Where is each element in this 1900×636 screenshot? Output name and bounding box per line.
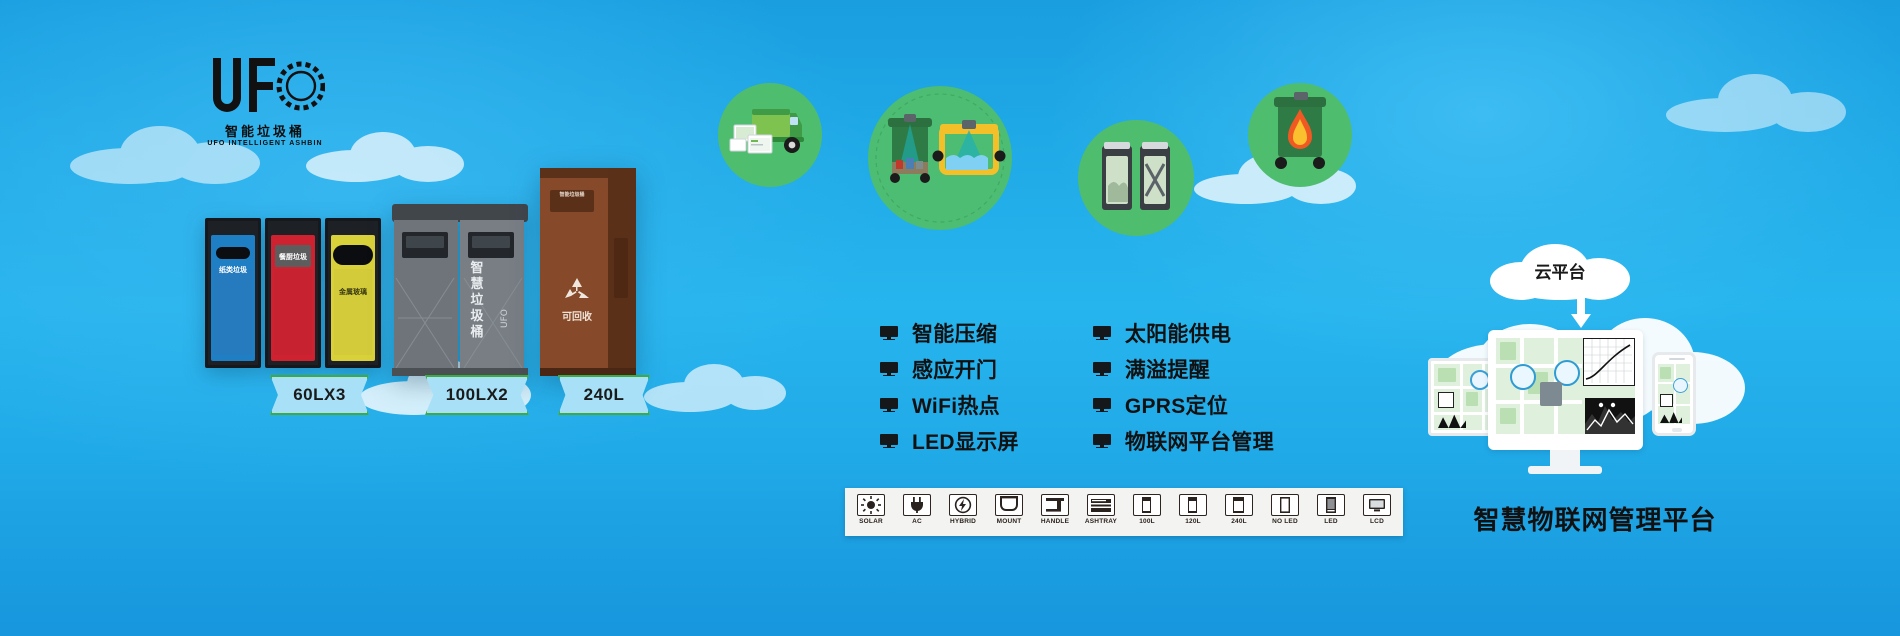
feature-label: 感应开门 xyxy=(912,354,997,384)
option-chip-120l[interactable]: 120L xyxy=(1173,494,1213,530)
monitor-icon xyxy=(880,434,898,448)
option-chip-100l[interactable]: 100L xyxy=(1127,494,1167,530)
feature-label: 物联网平台管理 xyxy=(1125,426,1274,456)
cloud-decoration xyxy=(640,360,790,416)
grey-double-bin: UFO 智慧垃圾桶 xyxy=(390,198,530,378)
map-view xyxy=(1658,364,1690,424)
wall-mount-icon xyxy=(995,494,1023,516)
brand-logo: 智能垃圾桶 UFO INTELLIGENT ASHBIN xyxy=(205,52,325,152)
option-chip-ac[interactable]: AC xyxy=(897,494,937,530)
sun-icon xyxy=(857,494,885,516)
monitor-icon xyxy=(1093,362,1111,376)
bin-120l-icon xyxy=(1179,494,1207,516)
three-color-bin-set: 纸类垃圾 餐厨垃圾 金属玻璃 xyxy=(205,218,385,378)
option-icon-strip: SOLAR AC HYBRID MOUNT xyxy=(845,488,1403,536)
handle-icon xyxy=(1041,494,1069,516)
brand-name-cn: 智能垃圾桶 xyxy=(205,124,325,139)
capacity-banner-text: 60LX3 xyxy=(293,385,346,405)
feature-label: 太阳能供电 xyxy=(1125,318,1232,348)
recycle-icon xyxy=(562,276,592,304)
feature-item: 物联网平台管理 xyxy=(1093,428,1274,454)
monitor-icon xyxy=(880,362,898,376)
feature-list: 智能压缩 感应开门 WiFi热点 LED显示屏 太阳能供电 满溢提醒 xyxy=(880,320,1274,454)
option-chip-240l[interactable]: 240L xyxy=(1219,494,1259,530)
bin-paper: 纸类垃圾 xyxy=(205,218,261,368)
ufo-logo-icon xyxy=(205,52,325,124)
feature-item: GPRS定位 xyxy=(1093,392,1274,418)
option-label: LED xyxy=(1324,518,1338,525)
brand-name-en: UFO INTELLIGENT ASHBIN xyxy=(205,139,325,149)
option-label: MOUNT xyxy=(997,518,1022,525)
cloud-decoration xyxy=(1660,70,1850,136)
bin-label: 餐厨垃圾 xyxy=(268,252,318,262)
option-chip-handle[interactable]: HANDLE xyxy=(1035,494,1075,530)
option-chip-mount[interactable]: MOUNT xyxy=(989,494,1029,530)
option-label: SOLAR xyxy=(859,518,883,525)
led-panel-icon xyxy=(1317,494,1345,516)
phone-device xyxy=(1652,352,1696,436)
option-label: NO LED xyxy=(1272,518,1298,525)
feature-item: 智能压缩 xyxy=(880,320,1019,346)
option-label: 100L xyxy=(1139,518,1155,525)
cloud-platform-label-wrap: 云平台 xyxy=(1505,248,1615,294)
power-plug-icon xyxy=(903,494,931,516)
bin-kitchen: 餐厨垃圾 xyxy=(265,218,321,368)
desktop-monitor xyxy=(1488,330,1643,450)
monitor-icon xyxy=(880,326,898,340)
map-view xyxy=(1434,364,1494,430)
option-chip-ashtray[interactable]: ASHTRAY xyxy=(1081,494,1121,530)
bin-label: 金属玻璃 xyxy=(328,287,378,297)
feature-column-left: 智能压缩 感应开门 WiFi热点 LED显示屏 xyxy=(880,320,1019,454)
capacity-banner-text: 100LX2 xyxy=(446,385,509,405)
option-label: AC xyxy=(912,518,922,525)
option-chip-hybrid[interactable]: HYBRID xyxy=(943,494,983,530)
monitor-icon xyxy=(1093,398,1111,412)
capacity-banner-text: 240L xyxy=(584,385,625,405)
monitor-icon xyxy=(1093,326,1111,340)
cloud-decoration xyxy=(300,128,470,188)
circle-fire-detection xyxy=(1248,83,1352,187)
brown-bin-top-label: 智能垃圾桶 xyxy=(552,192,592,199)
feature-label: WiFi热点 xyxy=(912,390,1000,420)
option-chip-solar[interactable]: SOLAR xyxy=(851,494,891,530)
feature-item: 满溢提醒 xyxy=(1093,356,1274,382)
monitor-icon xyxy=(1093,434,1111,448)
lcd-screen-icon xyxy=(1363,494,1391,516)
grey-bin-label: 智慧垃圾桶 xyxy=(468,260,486,340)
option-label: ASHTRAY xyxy=(1085,518,1117,525)
svg-text:UFO: UFO xyxy=(500,309,510,328)
option-chip-no-led[interactable]: NO LED xyxy=(1265,494,1305,530)
platform-title: 智慧物联网管理平台 xyxy=(1430,500,1760,537)
feature-label: LED显示屏 xyxy=(912,426,1019,456)
feature-item: LED显示屏 xyxy=(880,428,1019,454)
bin-100l-icon xyxy=(1133,494,1161,516)
feature-label: 满溢提醒 xyxy=(1125,354,1210,384)
option-label: HANDLE xyxy=(1041,518,1069,525)
feature-item: 太阳能供电 xyxy=(1093,320,1274,346)
download-arrow-icon xyxy=(1568,296,1594,330)
feature-item: 感应开门 xyxy=(880,356,1019,382)
capacity-banner: 100LX2 xyxy=(425,375,529,415)
feature-label: GPRS定位 xyxy=(1125,390,1228,420)
monitor-icon xyxy=(880,398,898,412)
circle-fill-level-sensor xyxy=(868,86,1012,230)
bin-metal-glass: 金属玻璃 xyxy=(325,218,381,368)
option-chip-lcd[interactable]: LCD xyxy=(1357,494,1397,530)
brown-bin-label: 可回收 xyxy=(554,308,600,323)
bin-240l-icon xyxy=(1225,494,1253,516)
feature-column-right: 太阳能供电 满溢提醒 GPRS定位 物联网平台管理 xyxy=(1093,320,1274,454)
marketing-banner: 智能垃圾桶 UFO INTELLIGENT ASHBIN 纸类垃圾 餐厨垃圾 金… xyxy=(0,0,1900,636)
capacity-banner: 240L xyxy=(558,375,650,415)
circle-smart-collection-truck xyxy=(718,83,822,187)
circle-compaction-bins xyxy=(1078,120,1194,236)
cloud-platform-label: 云平台 xyxy=(1505,258,1615,283)
lightning-circle-icon xyxy=(949,494,977,516)
bin-label: 纸类垃圾 xyxy=(208,265,258,275)
option-label: HYBRID xyxy=(950,518,976,525)
blank-panel-icon xyxy=(1271,494,1299,516)
capacity-banner: 60LX3 xyxy=(270,375,369,415)
option-label: 120L xyxy=(1185,518,1201,525)
feature-label: 智能压缩 xyxy=(912,318,997,348)
feature-item: WiFi热点 xyxy=(880,392,1019,418)
option-label: 240L xyxy=(1231,518,1247,525)
option-label: LCD xyxy=(1370,518,1384,525)
brown-recycle-bin: 智能垃圾桶 可回收 xyxy=(540,168,636,378)
option-chip-led[interactable]: LED xyxy=(1311,494,1351,530)
ashtray-icon xyxy=(1087,494,1115,516)
